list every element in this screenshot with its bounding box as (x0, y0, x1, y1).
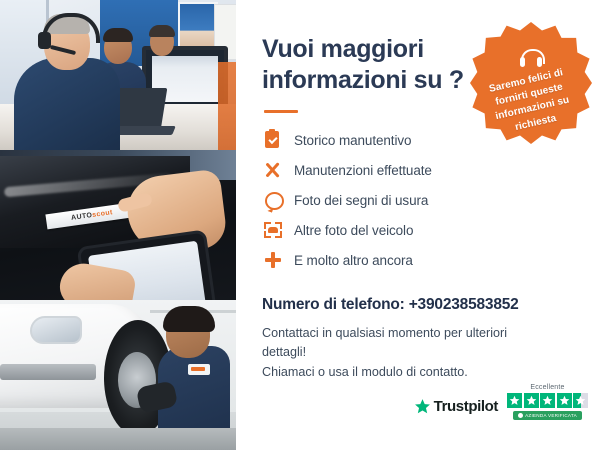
main-agent-body (14, 58, 120, 150)
feature-list: Storico manutentivo Manutenzioni effettu… (262, 127, 512, 274)
phone-number-line: Numero di telefono: +390238583852 (262, 296, 578, 314)
second-agent-hair (103, 28, 133, 42)
contact-copy-line-2: Chiamaci o usa il modulo di contatto. (262, 365, 468, 379)
photo-mechanic-inspecting-car-on-lift (0, 300, 236, 450)
trustpilot-wordmark: Trustpilot (434, 398, 498, 415)
car-front-grille (0, 364, 96, 380)
starburst-badge: Saremo felici di fornirti queste informa… (470, 22, 592, 144)
uniform-logo-patch (188, 364, 210, 375)
headset-earcup-shape (38, 32, 51, 49)
phone-number[interactable]: +390238583852 (409, 296, 519, 313)
star-filled (524, 393, 539, 408)
trustpilot-logo: Trustpilot (414, 398, 498, 420)
list-item: Foto dei segni di usura (262, 187, 512, 214)
star-rating (507, 393, 588, 408)
headset-earcup-left (520, 57, 525, 67)
contact-information-ad-card: AUTOscout Vuoi maggiori infor (0, 0, 600, 450)
feature-label: Altre foto del veicolo (294, 223, 413, 238)
magnifier-icon (262, 190, 284, 210)
contact-copy: Contattaci in qualsiasi momento per ulte… (262, 324, 522, 383)
trustpilot-widget[interactable]: Trustpilot Eccellente AZIENDA VERIFICATA (414, 384, 588, 420)
scan-car-icon (262, 220, 284, 240)
workshop-floor (0, 428, 236, 450)
photo-column: AUTOscout (0, 0, 236, 450)
ruler-brand-scout: scout (92, 209, 113, 219)
page-title: Vuoi maggiori informazioni su ? (262, 34, 477, 95)
list-item: Altre foto del veicolo (262, 217, 512, 244)
verified-check-icon (518, 413, 523, 418)
list-item: E molto altro ancora (262, 247, 512, 274)
star-half (573, 393, 588, 408)
list-item: Manutenzioni effettuate (262, 157, 512, 184)
clipboard-check-icon (262, 130, 284, 150)
photo-technician-measuring-car-bumper: AUTOscout (0, 150, 236, 300)
mechanic-hair (163, 306, 215, 332)
contact-copy-line-1: Contattaci in qualsiasi momento per ulte… (262, 326, 507, 360)
headline-line-2: informazioni su ? (262, 66, 464, 94)
rating-label: Eccellente (530, 384, 564, 391)
photo-call-center-agents-with-headsets (0, 0, 236, 150)
verified-badge-label: AZIENDA VERIFICATA (525, 413, 577, 418)
feature-label: Foto dei segni di usura (294, 193, 428, 208)
headline-line-1: Vuoi maggiori (262, 35, 424, 63)
crossed-tools-icon (262, 160, 284, 180)
plus-icon (262, 250, 284, 270)
feature-label: Storico manutentivo (294, 133, 411, 148)
star-filled (540, 393, 555, 408)
headset-earcup-right (537, 57, 542, 67)
feature-label: E molto altro ancora (294, 253, 413, 268)
trustpilot-rating: Eccellente AZIENDA VERIFICATA (507, 384, 588, 420)
status-badge: AZIENDA VERIFICATA (513, 411, 582, 420)
car-headlight (30, 316, 82, 344)
feature-label: Manutenzioni effettuate (294, 163, 432, 178)
orange-accent-strip (218, 62, 236, 150)
phone-label: Numero di telefono: (262, 296, 405, 313)
headset-icon (520, 49, 542, 67)
headline-divider (264, 110, 298, 113)
ruler-brand-auto: AUTO (71, 212, 93, 222)
star-filled (557, 393, 572, 408)
trustpilot-star-icon (414, 398, 431, 415)
content-panel: Vuoi maggiori informazioni su ? Saremo f… (236, 0, 600, 450)
third-agent-hair (149, 25, 175, 37)
star-filled (507, 393, 522, 408)
